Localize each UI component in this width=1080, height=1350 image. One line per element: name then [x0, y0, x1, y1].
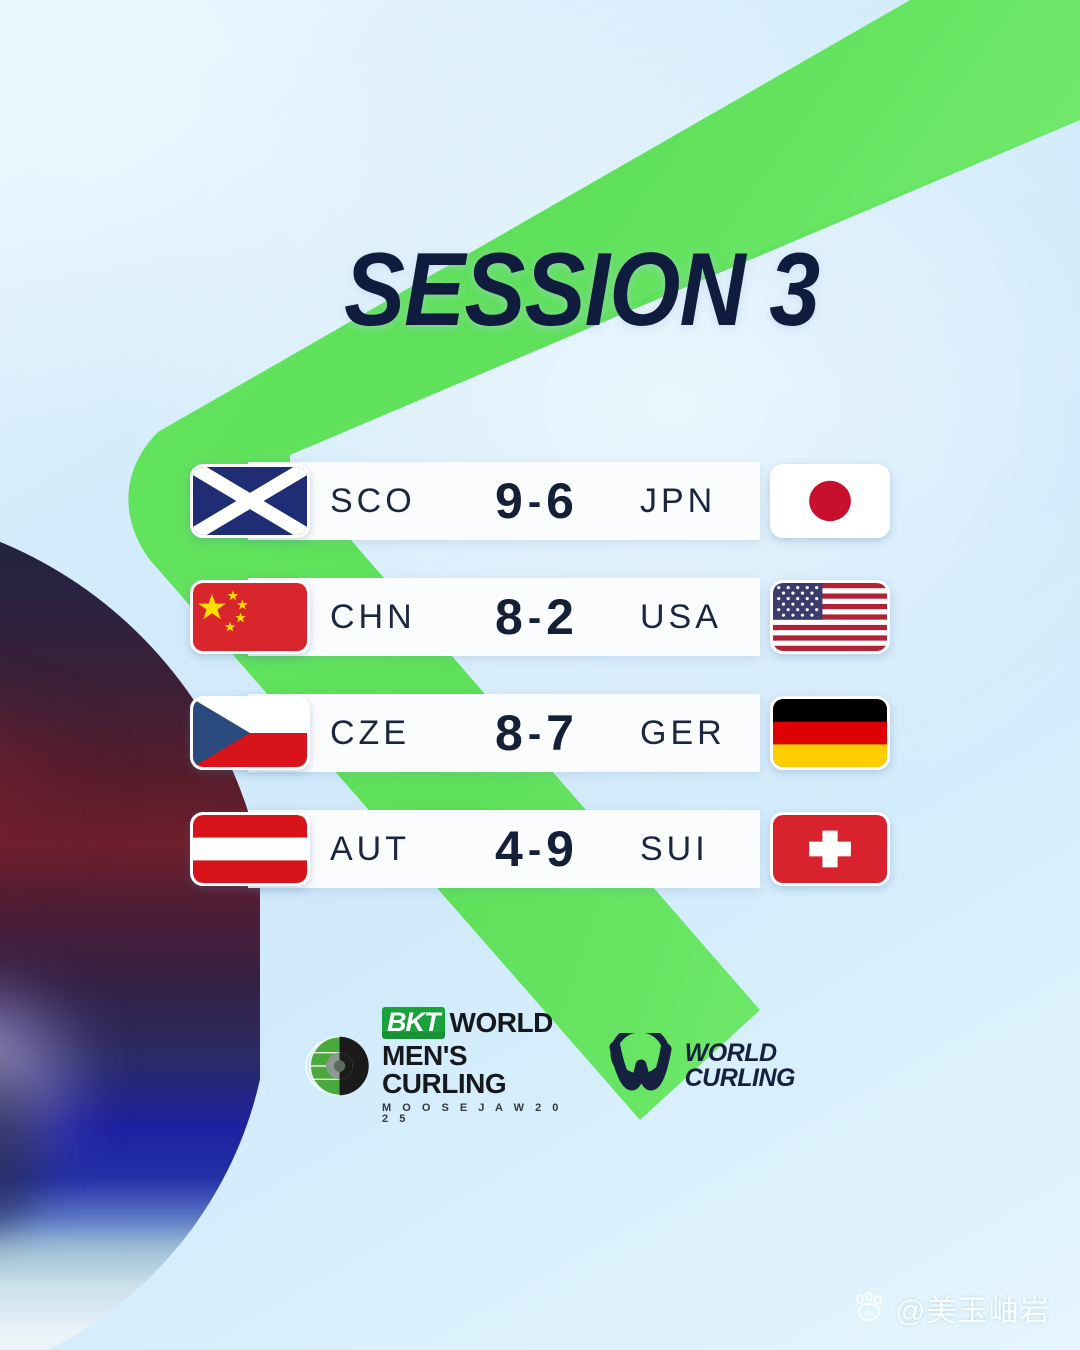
home-score: 9: [495, 473, 524, 529]
china-flag: [190, 580, 310, 654]
watermark: du @美玉岫岩: [852, 1286, 1050, 1330]
match-score: 8-7: [455, 694, 615, 772]
bkt-sponsor-badge: BKT: [382, 1007, 445, 1039]
baidu-paw-icon: du: [852, 1291, 886, 1325]
switzerland-flag: [770, 812, 890, 886]
world-curling-logo: WORLD CURLING: [604, 1033, 795, 1099]
event-logo: BKT WORLD MEN'S CURLING M O O S E J A W …: [305, 1007, 574, 1125]
logo-strip: BKT WORLD MEN'S CURLING M O O S E J A W …: [305, 1012, 795, 1120]
page-title: SESSION 3: [344, 238, 819, 342]
home-score: 4: [495, 821, 524, 877]
japan-flag: [770, 464, 890, 538]
score-dash: -: [524, 480, 546, 524]
czechia-flag: [190, 696, 310, 770]
event-logo-location-year: M O O S E J A W 2 0 2 5: [382, 1103, 574, 1125]
match-score: 8-2: [455, 578, 615, 656]
score-dash: -: [524, 712, 546, 756]
home-score: 8: [495, 705, 524, 761]
wc-line-world: WORLD: [685, 1041, 795, 1067]
away-country-code: JPN: [640, 462, 770, 540]
scotland-flag: [190, 464, 310, 538]
away-country-code: USA: [640, 578, 770, 656]
table-row[interactable]: CZE 8-7 GER: [0, 694, 1080, 772]
chevron-upper-arm: [180, 0, 1080, 458]
session-scoreboard-poster: SESSION 3 SCO 9-6 JPN: [0, 0, 1080, 1350]
world-curling-logo-text: WORLD CURLING: [685, 1041, 795, 1092]
world-curling-w-icon: [604, 1033, 676, 1099]
germany-flag: [770, 696, 890, 770]
usa-flag: [770, 580, 890, 654]
table-row[interactable]: CHN 8-2 USA: [0, 578, 1080, 656]
table-row[interactable]: AUT 4-9 SUI: [0, 810, 1080, 888]
home-country-code: CZE: [330, 694, 460, 772]
svg-text:du: du: [864, 1308, 874, 1318]
score-dash: -: [524, 596, 546, 640]
home-country-code: SCO: [330, 462, 460, 540]
event-logo-world: WORLD: [450, 1009, 553, 1037]
match-score: 4-9: [455, 810, 615, 888]
austria-flag: [190, 812, 310, 886]
wc-line-curling: CURLING: [685, 1066, 795, 1092]
score-dash: -: [524, 828, 546, 872]
event-logo-mens-curling: MEN'S CURLING: [382, 1042, 574, 1098]
home-country-code: AUT: [330, 810, 460, 888]
match-score: 9-6: [455, 462, 615, 540]
home-score: 8: [495, 589, 524, 645]
away-score: 6: [546, 473, 575, 529]
away-score: 7: [546, 705, 575, 761]
watermark-handle: @美玉岫岩: [895, 1286, 1050, 1330]
away-score: 2: [546, 589, 575, 645]
home-country-code: CHN: [330, 578, 460, 656]
away-score: 9: [546, 821, 575, 877]
away-country-code: SUI: [640, 810, 770, 888]
bkt-globe-icon: [305, 1027, 374, 1105]
event-logo-text: BKT WORLD MEN'S CURLING M O O S E J A W …: [382, 1007, 574, 1125]
table-row[interactable]: SCO 9-6 JPN: [0, 462, 1080, 540]
scoreboard-list: SCO 9-6 JPN: [0, 462, 1080, 926]
away-country-code: GER: [640, 694, 770, 772]
